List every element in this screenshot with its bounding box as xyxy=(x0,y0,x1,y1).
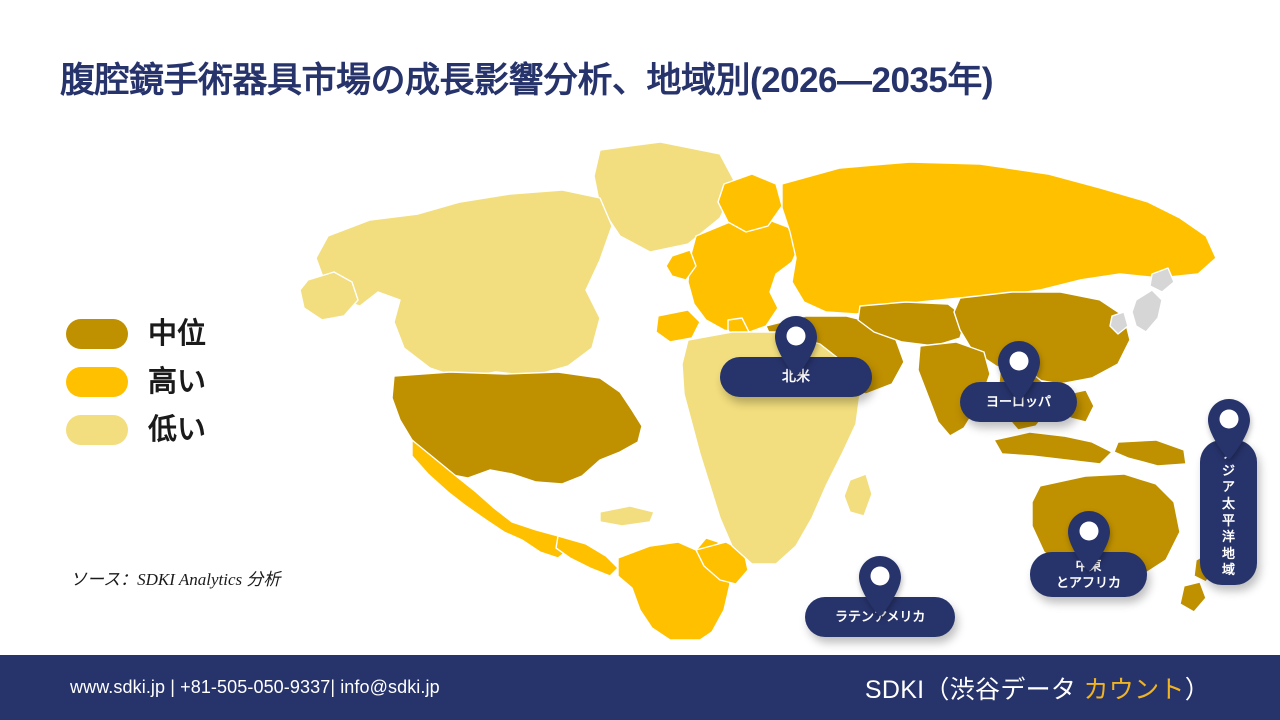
map-pin-north-america[interactable]: 北米 xyxy=(720,315,872,397)
legend-item-label: 低い xyxy=(148,416,206,445)
location-pin-icon xyxy=(1206,398,1252,460)
region-madagascar xyxy=(844,474,872,516)
legend: 中位 高い 低い xyxy=(66,310,306,454)
legend-item-label: 高い xyxy=(148,368,206,397)
location-pin-icon xyxy=(1066,510,1112,572)
footer-brand-suffix: ） xyxy=(1185,676,1210,704)
footer-bar: www.sdki.jp | +81-505-050-9337| info@sdk… xyxy=(0,655,1280,720)
location-pin-icon xyxy=(773,315,819,377)
map-pin-europe[interactable]: ヨーロッパ xyxy=(960,340,1077,422)
source-note: ソース：SDKI Analytics 分析 xyxy=(70,565,280,590)
region-canada xyxy=(316,190,612,378)
footer-brand-prefix: SDKI（渋谷データ xyxy=(865,676,1084,704)
legend-item-medium: 中位 xyxy=(66,310,306,358)
legend-item-low: 低い xyxy=(66,406,306,454)
page-title: 腹腔鏡手術器具市場の成長影響分析、地域別(2026—2035年) xyxy=(60,52,1220,103)
region-new-guinea xyxy=(1114,440,1186,466)
map-pin-label: アジア太平洋 地域 xyxy=(1200,440,1257,585)
region-japan xyxy=(1132,290,1162,332)
medium-swatch xyxy=(66,319,128,349)
region-central-america xyxy=(556,536,618,576)
legend-item-label: 中位 xyxy=(148,320,206,349)
location-pin-icon xyxy=(857,555,903,617)
footer-brand: SDKI（渋谷データ カウント） xyxy=(865,670,1210,706)
world-map: 北米 ヨーロッパ アジア太平洋 地域 中東 とアフリカ ラテンアメリカ xyxy=(300,140,1230,640)
region-iberia xyxy=(656,310,700,342)
legend-item-high: 高い xyxy=(66,358,306,406)
region-indonesia xyxy=(994,432,1112,464)
high-swatch xyxy=(66,367,128,397)
map-pin-asia-pacific[interactable]: アジア太平洋 地域 xyxy=(1200,398,1257,585)
footer-contact[interactable]: www.sdki.jp | +81-505-050-9337| info@sdk… xyxy=(70,677,440,698)
location-pin-icon xyxy=(996,340,1042,402)
region-caribbean xyxy=(600,506,654,526)
map-pin-latin-america[interactable]: ラテンアメリカ xyxy=(805,555,955,637)
region-new-zealand-south xyxy=(1180,582,1206,612)
map-pin-middle-east-africa[interactable]: 中東 とアフリカ xyxy=(1030,510,1147,597)
low-swatch xyxy=(66,415,128,445)
footer-brand-accent: カウント xyxy=(1083,676,1184,704)
